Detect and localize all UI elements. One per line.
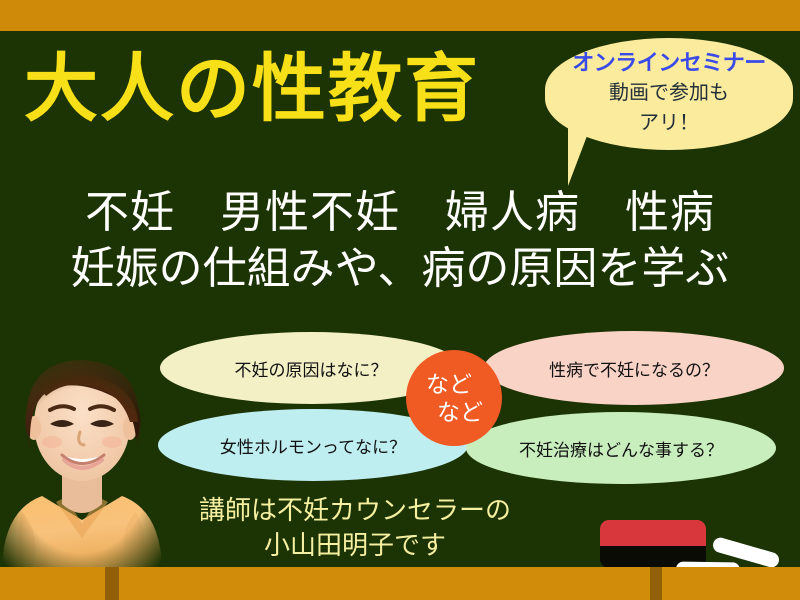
- etc-line-1: など: [426, 372, 472, 399]
- badge-line-2: 動画で参加も: [545, 77, 793, 107]
- blackboard-top-frame: [0, 0, 800, 31]
- question-text: 不妊の原因はなに？: [235, 356, 388, 381]
- ledge-seam-left: [105, 567, 119, 600]
- blackboard-ledge: [0, 567, 800, 600]
- page-title: 大人の性教育: [24, 47, 544, 131]
- question-text: 女性ホルモンってなに？: [220, 433, 406, 458]
- instructor-photo: [0, 352, 170, 567]
- question-text: 不妊治療はどんな事する？: [519, 436, 723, 461]
- subtitle-description: 妊娠の仕組みや、病の原因を学ぶ: [0, 242, 800, 296]
- etc-circle-badge: など など: [406, 350, 502, 446]
- portrait-illustration: [0, 352, 170, 567]
- badge-line-3: アリ！: [545, 107, 793, 137]
- subtitle-topics: 不妊 男性不妊 婦人病 性病: [0, 186, 800, 240]
- ledge-seam-right: [650, 567, 662, 600]
- question-bubble-treatment: 不妊治療はどんな事する？: [466, 412, 776, 484]
- question-text: 性病で不妊になるの？: [549, 356, 719, 381]
- question-bubble-std: 性病で不妊になるの？: [484, 331, 784, 405]
- eraser-icon: [600, 520, 706, 547]
- instructor-name: 小山田明子です: [155, 529, 555, 564]
- badge-line-1: オンラインセミナー: [545, 51, 793, 77]
- poster-canvas: 大人の性教育 オンラインセミナー 動画で参加も アリ！ 不妊 男性不妊 婦人病 …: [0, 0, 800, 600]
- online-seminar-badge: オンラインセミナー 動画で参加も アリ！: [545, 38, 793, 150]
- instructor-role: 講師は不妊カウンセラーの: [155, 494, 555, 529]
- etc-line-2: など: [437, 400, 483, 427]
- instructor-credit: 講師は不妊カウンセラーの 小山田明子です: [155, 494, 555, 564]
